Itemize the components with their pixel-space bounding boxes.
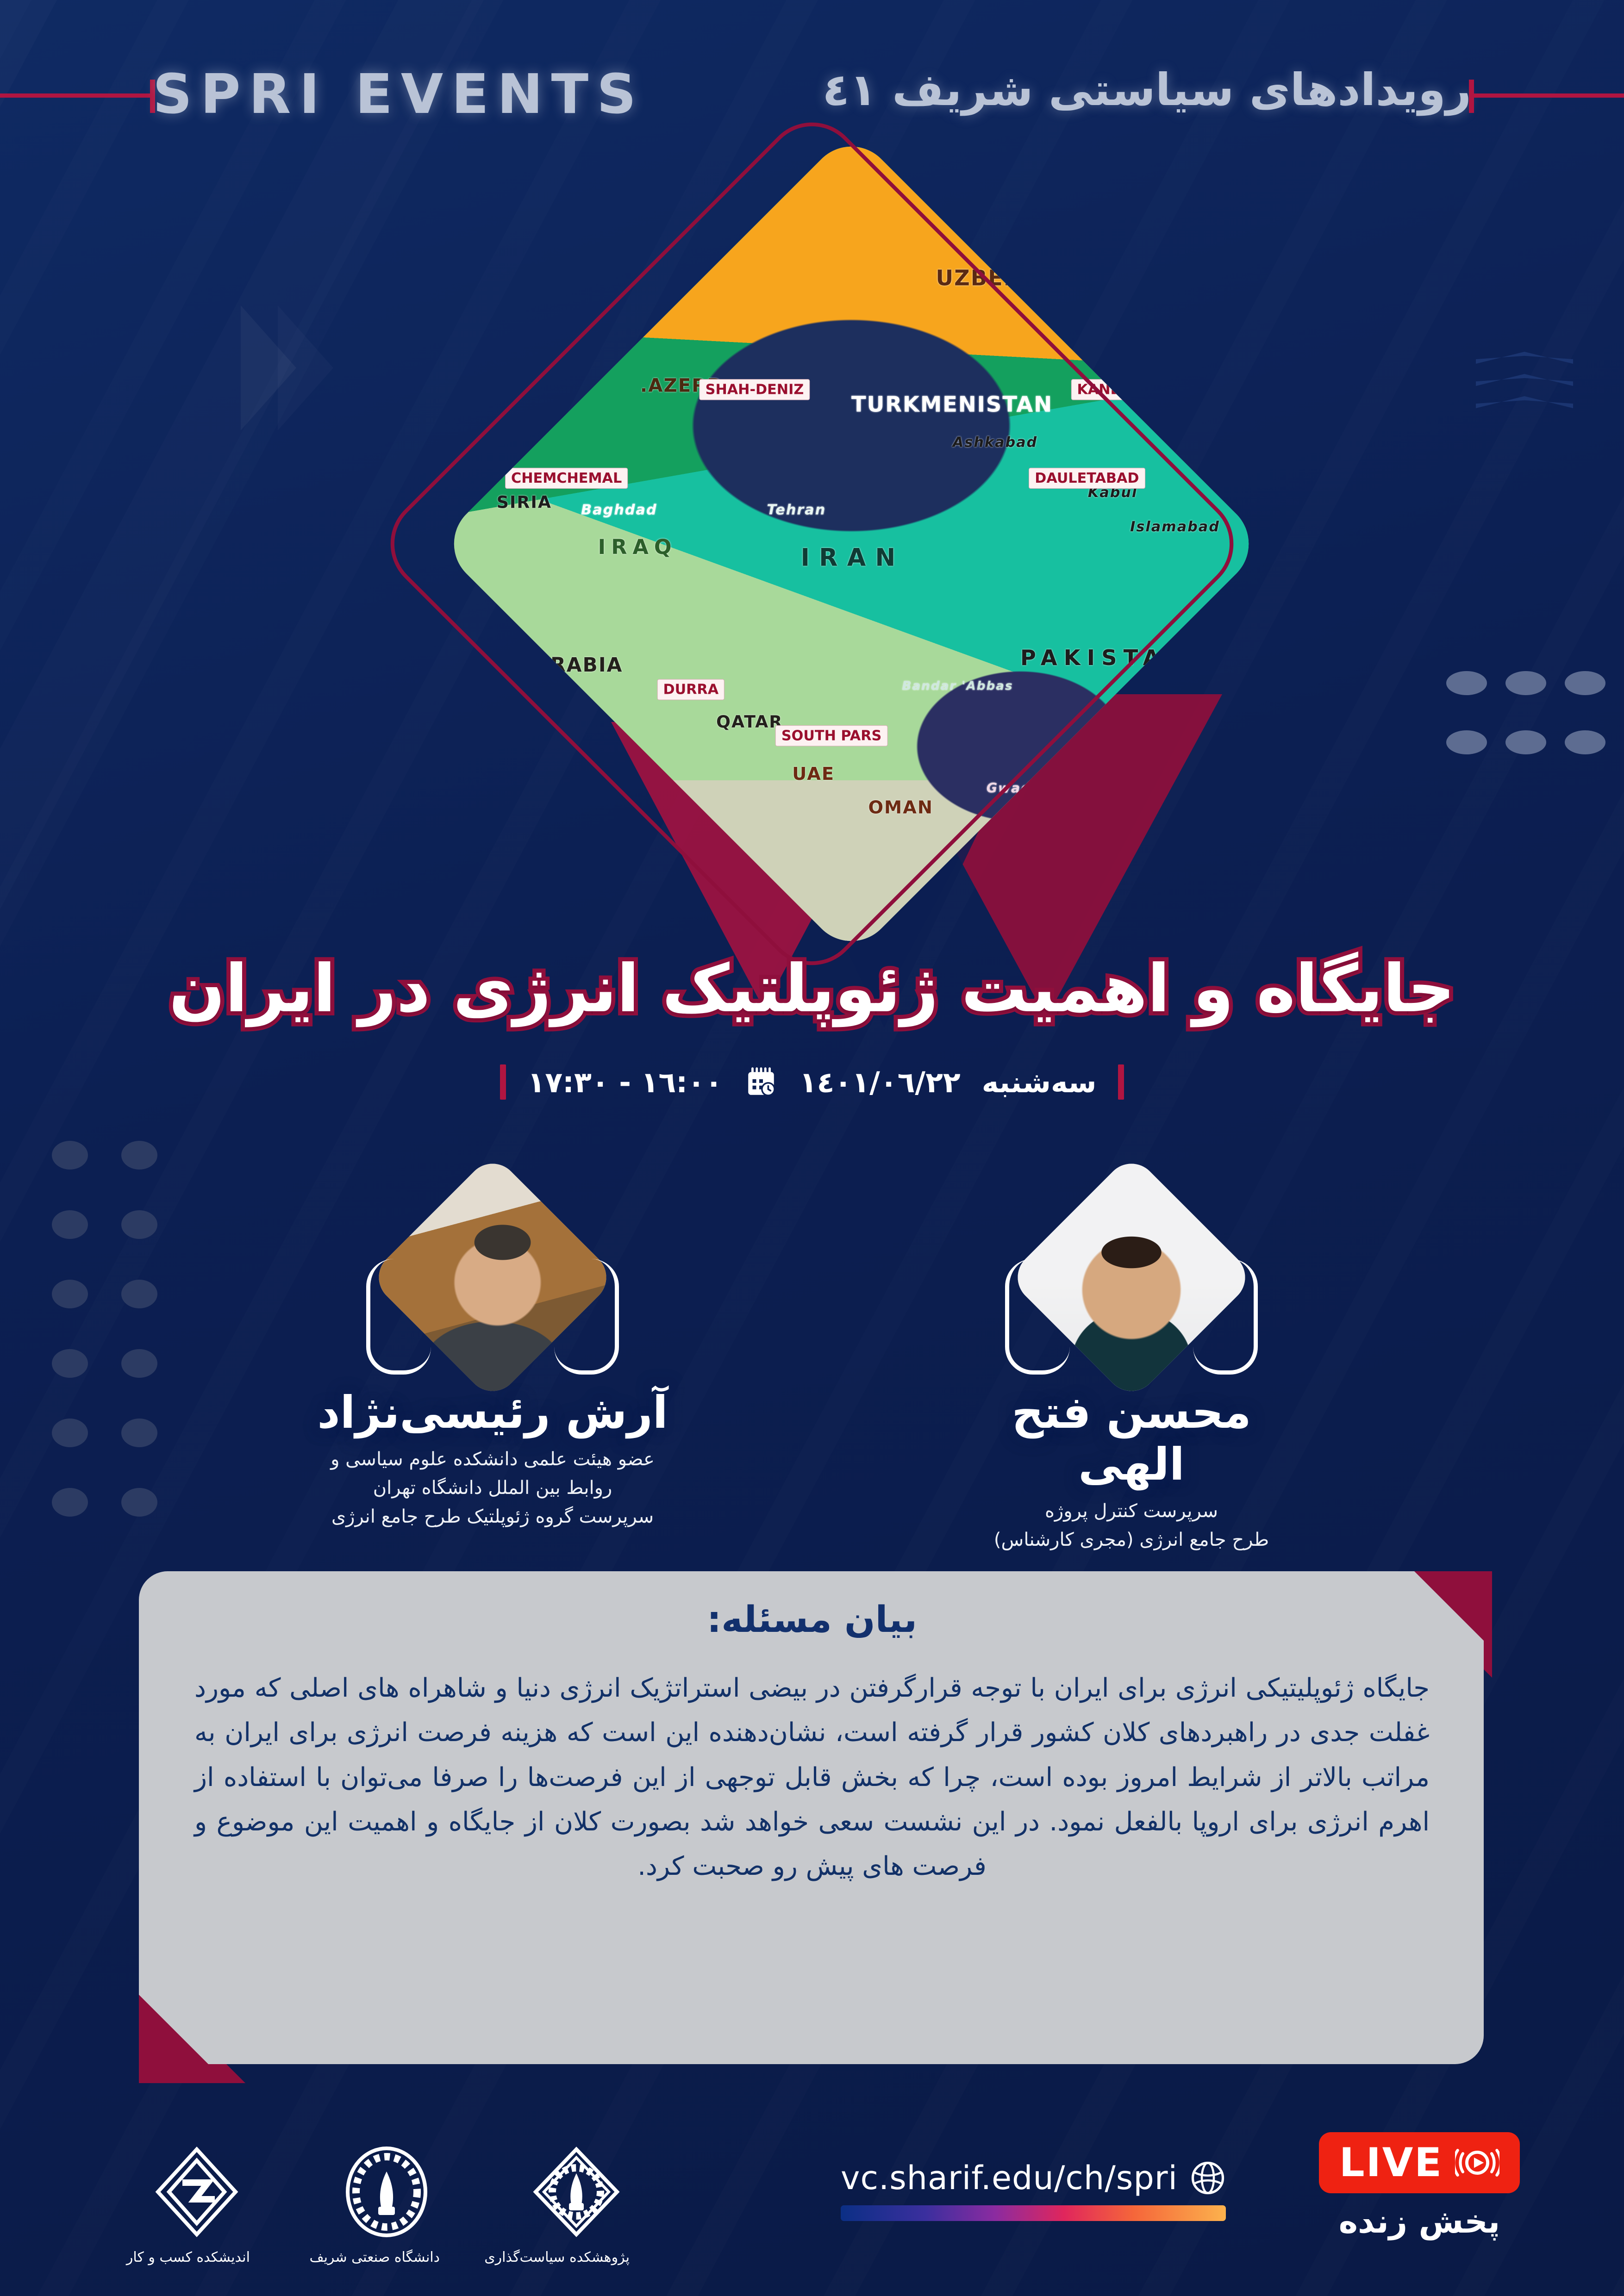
map-label-oman: OMAN [868, 797, 933, 817]
speaker-1-role-line-1: سرپرست کنترل پروژه [956, 1497, 1307, 1525]
vc-globe-icon [1190, 2160, 1226, 2196]
logo-caption-2: دانشگاه صنعتی شریف [333, 2249, 440, 2265]
map-city-tehran: Tehran [767, 502, 826, 518]
map-label-pakistan: PAKISTAN [1020, 645, 1191, 670]
event-title-row: جایگاه و اهمیت ژئوپلتیک انرژی در ایران [0, 951, 1624, 1027]
map-city-baghdad: Baghdad [581, 502, 657, 518]
speaker-1-role: سرپرست کنترل پروژه طرح جامع انرژی (مجری … [956, 1497, 1307, 1554]
header-rule-right [1471, 93, 1624, 98]
map-field-kandym: KANDYM [1071, 379, 1151, 400]
speaker-card-2: آرش رئیسی‌نژاد عضو هیئت علمی دانشکده علو… [317, 1189, 668, 1554]
map-label-iran: IRAN [801, 544, 905, 572]
map-image: UZBEKISTAN TURKMENISTAN AZERB. IRAN IRAQ… [437, 129, 1266, 958]
live-block: LIVE پخش زنده [1319, 2132, 1520, 2240]
event-title: جایگاه و اهمیت ژئوپلتیک انرژی در ایران [0, 951, 1624, 1027]
arrow-decoration-left [241, 305, 296, 430]
map-label-siria: SIRIA [497, 493, 552, 512]
map-city-islamabad: Islamabad [1130, 518, 1220, 535]
map-city-gwadar: Gwadar [987, 780, 1049, 796]
speaker-2-photo [368, 1153, 617, 1401]
business-think-tank-icon [150, 2146, 243, 2238]
logo-row: پژوهشکده سیاست‌گذاری دانشگاه صنعتی شریف … [144, 2146, 630, 2265]
live-broadcast-icon [1455, 2144, 1499, 2181]
statement-heading: بیان مسئله: [0, 1599, 1624, 1641]
sharif-university-seal-icon [340, 2146, 433, 2238]
schedule-bar-right [1118, 1064, 1124, 1100]
logo-caption-1: پژوهشکده سیاست‌گذاری [523, 2249, 630, 2265]
speaker-1-photo [1007, 1153, 1255, 1401]
map-field-chemchemal: CHEMCHEMAL [505, 468, 628, 489]
speaker-2-role-line-1: عضو هیئت علمی دانشکده علوم سیاسی و [317, 1445, 668, 1474]
speakers-row: محسن فتح الهی سرپرست کنترل پروژه طرح جام… [0, 1189, 1624, 1554]
avatar [368, 1153, 617, 1401]
map-field-dauletabad: DAULETABAD [1029, 468, 1145, 489]
logo-item-2: دانشگاه صنعتی شریف [333, 2146, 440, 2265]
arrow-decoration-left-2 [278, 305, 333, 430]
avatar [1007, 1153, 1255, 1401]
map-field-shah-deniz: SHAH-DENIZ [700, 379, 810, 400]
speaker-1-name: محسن فتح الهی [956, 1387, 1307, 1490]
live-label: LIVE [1339, 2140, 1443, 2186]
speaker-1-role-line-2: طرح جامع انرژی (مجری کارشناس) [956, 1525, 1307, 1554]
dot-grid-right [1428, 671, 1605, 790]
map-label-saudi-arabia: SAUDI ARABIA [539, 653, 623, 676]
logo-item-1: پژوهشکده سیاست‌گذاری [523, 2146, 630, 2265]
header-rule-left [0, 93, 153, 98]
live-badge: LIVE [1319, 2132, 1520, 2193]
map-label-qatar: QATAR [716, 713, 783, 732]
schedule-row: سه‌شنبه ١٤٠١/٠٦/٢٢ ١٦:٠٠ - ١٧:٣٠ [0, 1064, 1624, 1100]
map-label-uzbekistan: UZBEKISTAN [936, 265, 1097, 290]
broadcast-link-block[interactable]: vc.sharif.edu/ch/spri [841, 2159, 1226, 2221]
speaker-2-role-line-2: روابط بین الملل دانشگاه تهران [317, 1474, 668, 1502]
broadcast-url[interactable]: vc.sharif.edu/ch/spri [841, 2159, 1178, 2197]
speaker-2-role-line-3: سرپرست گروه ژئوپلتیک طرح جامع انرژی [317, 1502, 668, 1531]
gradient-underline [841, 2205, 1226, 2221]
calendar-clock-icon [744, 1065, 778, 1099]
live-label-fa: پخش زنده [1319, 2203, 1520, 2240]
statement-body: جایگاه ژئوپلیتیکی انرژی برای ایران با تو… [194, 1666, 1430, 1889]
speaker-2-role: عضو هیئت علمی دانشکده علوم سیاسی و روابط… [317, 1445, 668, 1531]
map-city-tbilisi: Tbilisi [598, 316, 652, 332]
schedule-time: ١٦:٠٠ - ١٧:٣٠ [527, 1065, 722, 1099]
brand-title-fa: رویدادهای سیاستی شریف ٤١ [822, 64, 1471, 116]
schedule-bar-left [500, 1064, 506, 1100]
logo-caption-3: اندیشکده کسب و کار [144, 2249, 250, 2265]
map-city-bandar-abbas: Bandar 'Abbas [902, 679, 1013, 693]
schedule-day: سه‌شنبه [982, 1065, 1097, 1099]
map-city-ashkabad: Ashkabad [953, 434, 1037, 450]
hero-map-region: UZBEKISTAN TURKMENISTAN AZERB. IRAN IRAQ… [372, 111, 1252, 967]
chevron-decoration-right [1476, 352, 1573, 418]
map-field-south-pars: SOUTH PARS [775, 725, 888, 746]
map-label-iraq: IRAQ [598, 535, 677, 559]
speaker-card-1: محسن فتح الهی سرپرست کنترل پروژه طرح جام… [956, 1189, 1307, 1554]
map-diamond: UZBEKISTAN TURKMENISTAN AZERB. IRAN IRAQ… [437, 129, 1266, 958]
map-field-durra: DURRA [657, 679, 725, 700]
sharif-crest-icon [530, 2146, 623, 2238]
logo-item-3: اندیشکده کسب و کار [144, 2146, 250, 2265]
schedule-date: ١٤٠١/٠٦/٢٢ [800, 1065, 961, 1099]
map-label-turkmenistan: TURKMENISTAN [851, 392, 1053, 417]
poster-footer: پژوهشکده سیاست‌گذاری دانشگاه صنعتی شریف … [0, 2074, 1624, 2277]
broadcast-link-row[interactable]: vc.sharif.edu/ch/spri [841, 2159, 1226, 2197]
map-label-uae: UAE [792, 763, 835, 784]
